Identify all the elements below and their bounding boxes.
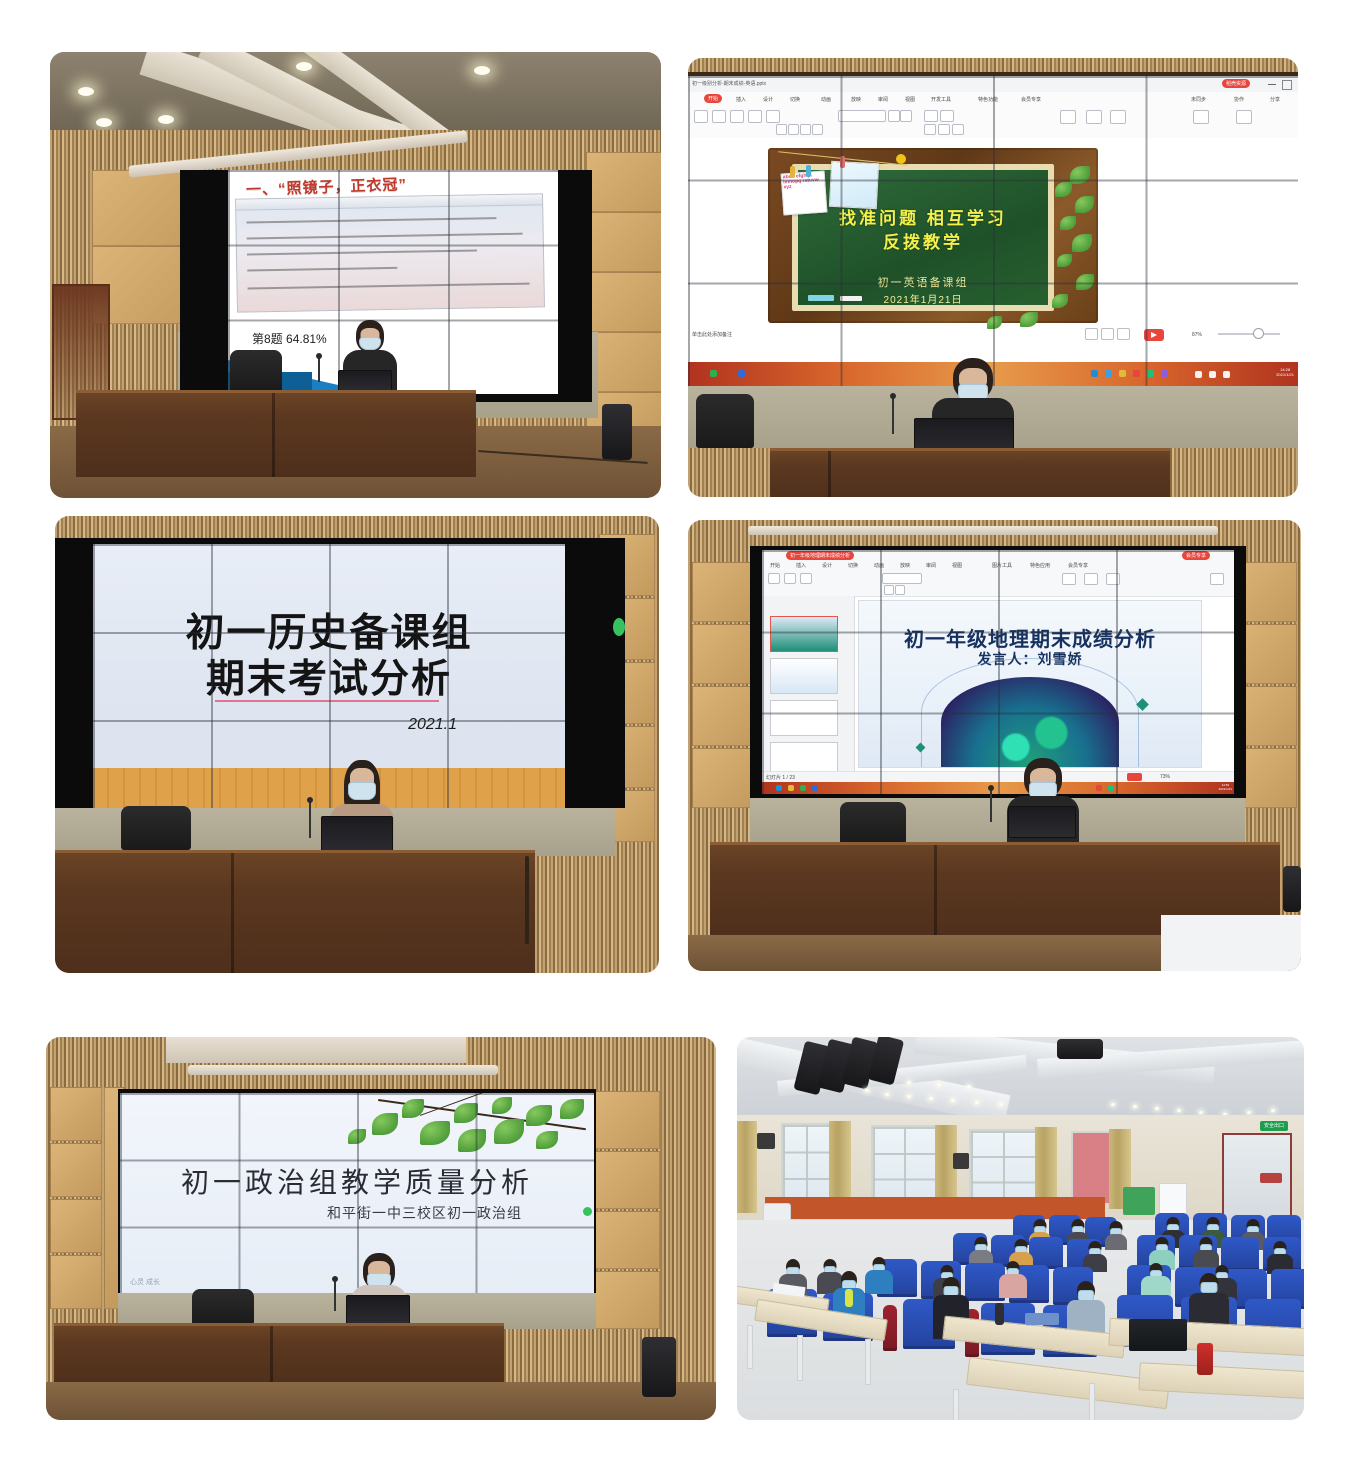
increase-font-icon[interactable]	[888, 110, 900, 122]
wall-panel	[692, 686, 756, 746]
wps-presentation-window: 初一年级地理期末成绩分析 会员专享 开始 插入 设计 切换 动画 放映 审阅 视…	[762, 550, 1234, 794]
taskbar-icon-wechat[interactable]	[710, 370, 717, 377]
zoom-level[interactable]: 73%	[1160, 774, 1170, 780]
chalkboard-line-1: 找准问题 相互学习	[798, 204, 1048, 229]
laptop	[1008, 806, 1076, 838]
document-text-line	[246, 217, 496, 223]
wps-member-chip[interactable]: 会员专享	[1182, 551, 1210, 560]
slide-stat-value: 64.81%	[286, 332, 327, 346]
tree-leaf	[420, 1121, 450, 1145]
scene-auditorium-stage: 一、“照镜子，正衣冠” 第8题 64.81%	[50, 52, 661, 498]
taskbar-icon-folder[interactable]	[1119, 370, 1126, 377]
italic-icon[interactable]	[895, 585, 905, 595]
wall-panel	[586, 152, 661, 212]
taskbar-icon-wechat[interactable]	[800, 785, 806, 791]
slide-title: 初一政治组教学质量分析	[120, 1161, 594, 1201]
window	[1071, 1131, 1111, 1205]
scene-auditorium-stage: 初一历史备课组 期末考试分析 2021.1	[55, 516, 659, 973]
ivy-leaf	[987, 316, 1002, 329]
zoom-level[interactable]: 87%	[1192, 332, 1202, 338]
tree-leaf	[458, 1129, 486, 1152]
photo-english-group: 初一级别分析-期末成绩-英语.pptx 稻壳资源 开始 插入 设计 切换 动画	[688, 58, 1298, 497]
taskbar-clock[interactable]: 14:28 2021/1/21	[1276, 367, 1294, 377]
wall-panel	[592, 1151, 660, 1209]
ceiling-light	[1271, 1109, 1275, 1112]
ribbon-tab-member[interactable]: 会员专享	[1068, 562, 1088, 569]
view-sorter-icon[interactable]	[1101, 328, 1114, 340]
ribbon-tab-view[interactable]: 视图	[905, 96, 915, 103]
clock-date: 2021/1/21	[1276, 372, 1294, 377]
chair	[696, 394, 754, 448]
layout-icon[interactable]	[800, 573, 812, 584]
tree-leaf	[348, 1129, 366, 1144]
floor-cable	[525, 856, 529, 944]
table-leg	[747, 1325, 753, 1369]
table-leg	[797, 1335, 803, 1381]
alphabet-card-text: abcd efghijk lmnopq rstuvw xyz	[783, 172, 819, 190]
clock-date: 2021/1/21	[1219, 787, 1232, 791]
ceiling-light	[78, 87, 94, 96]
wall-panel	[692, 748, 756, 808]
scene-auditorium-stage: 初一政治组教学质量分析 和平街一中三校区初一政治组 心灵 成长	[46, 1037, 716, 1420]
play-slideshow-button[interactable]	[1127, 773, 1142, 781]
wall-panel	[50, 1087, 102, 1141]
wps-ribbon-tabs: 开始 插入 设计 切换 动画 放映 审阅 视图 开发工具 特色功能 会员专享 未…	[688, 92, 1298, 107]
photo-politics-group: 初一政治组教学质量分析 和平街一中三校区初一政治组 心灵 成长	[46, 1037, 716, 1420]
wall-panel	[692, 562, 756, 622]
door-sign	[1260, 1173, 1282, 1183]
stage-light	[642, 1337, 676, 1397]
font-box[interactable]	[882, 573, 922, 584]
slide-wood-frame: 找准问题 相互学习 反拨教学 初一英语备课组 2021年1月21日	[768, 148, 1098, 323]
window	[969, 1129, 1037, 1207]
attendee-body	[999, 1274, 1027, 1298]
slide-title-line-2: 期末考试分析	[93, 648, 565, 704]
window-mullions	[971, 1131, 1035, 1205]
decrease-font-icon[interactable]	[900, 110, 912, 122]
ribbon-tab-devtools[interactable]: 开发工具	[931, 96, 951, 103]
wall-panel	[50, 1199, 102, 1253]
window	[781, 1123, 831, 1205]
face-mask	[348, 782, 376, 800]
ribbon-tab-slideshow[interactable]: 放映	[851, 96, 861, 103]
picture-icon[interactable]	[1084, 573, 1098, 585]
ceiling-light	[96, 118, 112, 127]
embedded-document	[235, 193, 545, 312]
zoom-slider[interactable]	[1218, 333, 1280, 335]
cut-icon[interactable]	[712, 110, 726, 123]
chalkboard-line-2: 反拨教学	[798, 228, 1048, 253]
desk-seam	[828, 451, 831, 497]
document-text-line	[247, 249, 477, 255]
taskbar-icon-shield[interactable]	[1161, 370, 1168, 377]
attendee	[865, 1257, 893, 1293]
document-text-line	[248, 283, 530, 290]
slide-stat-label: 第8题	[252, 332, 283, 346]
wps-status-bar: 幻灯片 1 / 23 73%	[762, 771, 1234, 782]
attendee-body	[1105, 1234, 1127, 1250]
view-normal-icon[interactable]	[1085, 328, 1098, 340]
ivy-leaf	[1055, 182, 1072, 197]
microphone	[334, 1281, 336, 1311]
play-icon	[1151, 332, 1157, 338]
slide-canvas: 初一年级地理期末成绩分析 发言人：刘雪娇	[858, 600, 1202, 768]
view-reading-icon[interactable]	[1117, 328, 1130, 340]
chair	[121, 806, 191, 850]
wps-slide-area: 找准问题 相互学习 反拨教学 初一英语备课组 2021年1月21日	[688, 138, 1298, 344]
taskbar-icon-wps[interactable]	[812, 785, 818, 791]
clothespin	[790, 166, 795, 178]
ivy-leaf	[1072, 234, 1092, 252]
ivy-leaf	[1060, 216, 1076, 230]
wall-panel	[592, 1091, 660, 1149]
bullet-list-icon[interactable]	[924, 110, 938, 122]
ivy-leaf	[1057, 254, 1072, 267]
shapes-icon[interactable]	[1062, 573, 1076, 585]
window	[871, 1125, 937, 1205]
ceiling-light	[1133, 1105, 1137, 1108]
laptop	[346, 1295, 410, 1325]
globe-orbit-ring	[921, 658, 1139, 767]
laptop	[321, 816, 393, 852]
slide-index: 幻灯片 1 / 23	[766, 774, 795, 781]
alphabet-card: abcd efghijk lmnopq rstuvw xyz	[781, 171, 828, 216]
ceiling-light	[907, 1095, 911, 1098]
ceiling-light	[1111, 1103, 1115, 1106]
desk-seam	[934, 845, 937, 941]
slide-status-note: 单击此处添加备注	[692, 331, 732, 338]
stage-light	[602, 404, 632, 460]
ribbon-tab-animation[interactable]: 动画	[874, 562, 884, 569]
ceiling-light	[907, 1081, 911, 1084]
video-wall-screen: 初一年级地理期末成绩分析 会员专享 开始 插入 设计 切换 动画 放映 审阅 视…	[762, 550, 1234, 794]
tree-leaf	[492, 1097, 512, 1114]
taskbar-clock[interactable]: 14:53 2021/1/21	[1219, 783, 1232, 791]
format-painter-icon[interactable]	[730, 110, 744, 123]
new-slide-icon[interactable]	[748, 110, 762, 123]
tree-leaf	[560, 1099, 584, 1119]
slide-thumbnail-pane[interactable]	[762, 596, 855, 772]
window-mullions	[783, 1125, 829, 1203]
document-text-line	[247, 267, 397, 272]
taskbar-icon-browser[interactable]	[1091, 370, 1098, 377]
table-leg	[1089, 1383, 1095, 1420]
exit-sign: 安全出口	[1260, 1121, 1288, 1131]
ceiling-light	[474, 66, 490, 75]
ceiling-light	[975, 1101, 979, 1104]
slide-thumbnail[interactable]	[770, 616, 838, 652]
presenter-desk	[76, 390, 476, 477]
white-panel	[1161, 915, 1301, 971]
chalkboard-eraser	[808, 295, 834, 301]
wps-window-close[interactable]	[1282, 80, 1292, 90]
paste-icon[interactable]	[768, 573, 780, 584]
numbered-list-icon[interactable]	[940, 110, 954, 122]
wall-panel	[50, 1143, 102, 1197]
speaker-box	[953, 1153, 969, 1169]
taskbar-icon-video[interactable]	[1133, 370, 1140, 377]
ceiling-light	[296, 62, 312, 71]
exit-sign-label: 安全出口	[1264, 1123, 1284, 1129]
ceiling-light	[1247, 1111, 1251, 1114]
taskbar-icon-volume[interactable]	[1195, 371, 1202, 378]
ceiling-light	[1155, 1107, 1159, 1110]
wall-panel	[592, 1211, 660, 1269]
microphone	[892, 398, 894, 434]
ceiling-light	[929, 1097, 933, 1100]
projector	[1057, 1039, 1103, 1059]
presenter-desk	[54, 1323, 504, 1388]
video-wall-screen: 初一级别分析-期末成绩-英语.pptx 稻壳资源 开始 插入 设计 切换 动画	[688, 76, 1298, 386]
ribbon-tab-home[interactable]: 开始	[770, 562, 780, 569]
scene-wps-presentation: 初一级别分析-期末成绩-英语.pptx 稻壳资源 开始 插入 设计 切换 动画	[688, 58, 1298, 497]
slide-watermark: 心灵 成长	[130, 1277, 160, 1287]
curtain	[829, 1121, 851, 1209]
ceiling-light	[158, 115, 174, 124]
window-mullions	[873, 1127, 935, 1203]
wps-ribbon-toolbar	[688, 106, 1298, 139]
wps-file-tab[interactable]: 初一级别分析-期末成绩-英语.pptx	[692, 80, 766, 87]
chalkboard-date: 2021年1月21日	[798, 291, 1048, 306]
hanging-ball	[896, 154, 906, 164]
align-right-icon[interactable]	[952, 124, 964, 135]
ribbon-tab-view[interactable]: 视图	[952, 562, 962, 569]
thermos-bottle	[845, 1289, 853, 1307]
notebook	[1025, 1313, 1059, 1325]
laptop	[338, 370, 392, 392]
wall-panel	[692, 624, 756, 684]
italic-icon[interactable]	[788, 124, 799, 135]
ivy-leaf	[1070, 166, 1090, 184]
chalk-stick	[840, 296, 862, 301]
taskbar-icon-music[interactable]	[1108, 785, 1114, 791]
ceiling-light	[951, 1099, 955, 1102]
presenter-desk	[55, 850, 535, 973]
clothespin	[840, 156, 845, 168]
clothespin	[806, 165, 811, 177]
attendee-body	[865, 1270, 893, 1294]
presenter-desk	[770, 448, 1170, 497]
ivy-leaf	[1076, 274, 1094, 290]
new-slide-icon[interactable]	[784, 573, 796, 584]
table-leg	[865, 1339, 871, 1385]
ribbon-tab-insert[interactable]: 插入	[736, 96, 746, 103]
taskbar-icon-music[interactable]	[1147, 370, 1154, 377]
picture-icon[interactable]	[1086, 110, 1102, 124]
wps-title-bar: 初一级别分析-期末成绩-英语.pptx 稻壳资源	[688, 76, 1298, 93]
wall-panel	[50, 1255, 102, 1309]
ribbon-tab-home[interactable]: 开始	[704, 94, 722, 103]
select-icon[interactable]	[1210, 573, 1224, 585]
taskbar-icon-wps[interactable]	[738, 370, 745, 377]
desk-seam	[272, 393, 275, 477]
ribbon-tab-review[interactable]: 审阅	[926, 562, 936, 569]
photo-geography-group: 初一年级地理期末成绩分析 会员专享 开始 插入 设计 切换 动画 放映 审阅 视…	[688, 520, 1301, 971]
document-text-line	[247, 233, 523, 240]
tree-leaf	[494, 1119, 524, 1144]
paste-icon[interactable]	[694, 110, 708, 123]
microphone	[990, 790, 992, 822]
taskbar-icon-network[interactable]	[1209, 371, 1216, 378]
ribbon-action-sync[interactable]: 未同步	[1191, 96, 1206, 103]
ribbon-tab-member[interactable]: 会员专享	[1021, 96, 1041, 103]
wall-panel	[586, 272, 661, 332]
scene-auditorium-stage: 初一年级地理期末成绩分析 会员专享 开始 插入 设计 切换 动画 放映 审阅 视…	[688, 520, 1301, 971]
ribbon-tab-review[interactable]: 审阅	[878, 96, 888, 103]
microphone	[309, 802, 311, 838]
layout-icon[interactable]	[766, 110, 780, 123]
select-icon[interactable]	[1236, 110, 1252, 124]
wall-lower-panel	[750, 798, 1245, 844]
bold-icon[interactable]	[776, 124, 787, 135]
slide-divider	[215, 700, 439, 702]
slide-thumbnail[interactable]	[770, 658, 838, 694]
strikethrough-icon[interactable]	[812, 124, 823, 135]
photo-collage: 一、“照镜子，正衣冠” 第8题 64.81%	[0, 0, 1349, 1466]
wps-window-minimize[interactable]	[1268, 84, 1276, 85]
speaker-box	[757, 1133, 775, 1149]
wps-ribbon-toolbar	[762, 570, 1234, 597]
slide-subtitle: 和平街一中三校区初一政治组	[120, 1203, 594, 1223]
video-wall: 初一级别分析-期末成绩-英语.pptx 稻壳资源 开始 插入 设计 切换 动画	[688, 76, 1298, 386]
stage-floor	[46, 1382, 716, 1420]
screen-status-led	[613, 618, 625, 636]
wall-panel	[592, 1271, 660, 1329]
wall-panel	[586, 212, 661, 272]
slide-stat: 第8题 64.81%	[252, 330, 327, 347]
ceiling-soffit	[166, 1037, 466, 1063]
ribbon-tab-design[interactable]: 设计	[822, 562, 832, 569]
attendee	[1105, 1221, 1127, 1249]
play-slideshow-button[interactable]	[1144, 329, 1164, 341]
ribbon-tab-special-apps[interactable]: 特色应用	[1030, 562, 1050, 569]
font-size-box[interactable]	[838, 110, 886, 122]
illustration-card	[829, 161, 879, 209]
ceiling-light	[885, 1093, 889, 1096]
ribbon-action-share[interactable]: 分享	[1270, 96, 1280, 103]
curtain	[737, 1121, 757, 1213]
green-poster	[1123, 1187, 1155, 1215]
ceiling-light	[1199, 1111, 1203, 1114]
ivy-leaf	[1075, 196, 1094, 213]
shapes-icon[interactable]	[1060, 110, 1076, 124]
textbox-icon[interactable]	[1106, 573, 1120, 585]
taskbar-icon-folder[interactable]	[788, 785, 794, 791]
slide-thumbnail[interactable]	[770, 700, 838, 736]
chalkboard-signature: 初一英语备课组	[798, 274, 1048, 290]
wps-member-chip[interactable]: 稻壳资源	[1222, 79, 1250, 88]
laptop	[1129, 1319, 1187, 1351]
wps-presentation-window: 初一级别分析-期末成绩-英语.pptx 稻壳资源 开始 插入 设计 切换 动画	[688, 76, 1298, 386]
thermos-bottle	[1197, 1343, 1213, 1375]
attendee	[999, 1261, 1027, 1297]
desk-seam	[231, 853, 234, 973]
ribbon-tab-insert[interactable]: 插入	[796, 562, 806, 569]
ceiling-light	[967, 1085, 971, 1088]
screen-status-led	[583, 1207, 592, 1216]
ceiling-light	[865, 1089, 869, 1092]
ribbon-tab-picture-tools[interactable]: 图片工具	[992, 562, 1012, 569]
align-center-icon[interactable]	[938, 124, 950, 135]
thermos-bottle	[995, 1303, 1004, 1325]
ceiling-light	[999, 1103, 1003, 1106]
ceiling-rail	[748, 526, 1218, 535]
taskbar-icon-video[interactable]	[1096, 785, 1102, 791]
taskbar-icon-battery[interactable]	[1223, 371, 1230, 378]
face-mask	[1201, 1282, 1218, 1293]
slide-title: 初一年级地理期末成绩分析	[859, 623, 1201, 652]
chair	[840, 802, 906, 844]
underline-icon[interactable]	[800, 124, 811, 135]
photo-math-group: 一、“照镜子，正衣冠” 第8题 64.81%	[50, 52, 661, 498]
ribbon-tab-features[interactable]: 特色功能	[978, 96, 998, 103]
chair	[230, 350, 282, 392]
face-mask	[359, 337, 381, 350]
ribbon-tab-animation[interactable]: 动画	[821, 96, 831, 103]
taskbar-icon-qq[interactable]	[1105, 370, 1112, 377]
tree-leaf	[536, 1131, 558, 1149]
ivy-leaf	[1052, 294, 1068, 308]
microphone	[318, 358, 320, 382]
ceiling-light	[937, 1083, 941, 1086]
zoom-slider-handle[interactable]	[1253, 328, 1264, 339]
ceiling-light	[1177, 1109, 1181, 1112]
ribbon-tab-design[interactable]: 设计	[763, 96, 773, 103]
ribbon-tab-slideshow[interactable]: 放映	[900, 562, 910, 569]
bold-icon[interactable]	[884, 585, 894, 595]
taskbar-icon-browser[interactable]	[776, 785, 782, 791]
ribbon-tab-transition[interactable]: 切换	[848, 562, 858, 569]
wps-file-tab[interactable]: 初一年级地理期末成绩分析	[786, 551, 854, 560]
ceiling-rail	[188, 1065, 498, 1075]
windows-taskbar: 14:53 2021/1/21	[762, 782, 1234, 794]
table-leg	[953, 1389, 959, 1420]
align-left-icon[interactable]	[924, 124, 936, 135]
slide-date: 2021.1	[408, 716, 457, 734]
tree-leaf	[454, 1103, 478, 1123]
ribbon-tab-transition[interactable]: 切换	[790, 96, 800, 103]
chair	[192, 1289, 254, 1325]
tree-leaf	[372, 1113, 398, 1135]
stage-light	[1283, 866, 1301, 912]
ribbon-action-collab[interactable]: 协作	[1234, 96, 1244, 103]
photo-history-group: 初一历史备课组 期末考试分析 2021.1	[55, 516, 659, 973]
photo-audience: 安全出口	[737, 1037, 1304, 1420]
ivy-leaf	[1020, 312, 1038, 327]
scene-auditorium-audience: 安全出口	[737, 1037, 1304, 1420]
video-wall: 初一年级地理期末成绩分析 会员专享 开始 插入 设计 切换 动画 放映 审阅 视…	[750, 546, 1246, 798]
desk-seam	[270, 1326, 273, 1388]
find-replace-icon[interactable]	[1193, 110, 1209, 124]
textbox-icon[interactable]	[1110, 110, 1126, 124]
